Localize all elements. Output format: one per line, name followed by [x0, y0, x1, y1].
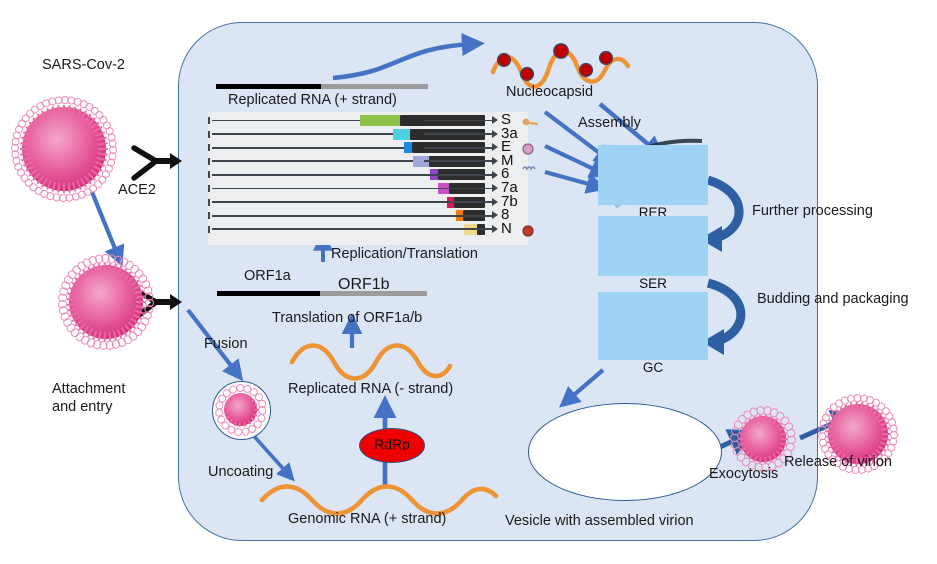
gene-segment — [404, 142, 412, 153]
rna-backbone — [212, 147, 404, 149]
replicated-plus-strand-bar — [216, 84, 428, 89]
nucleocapsid-label: Nucleocapsid — [506, 84, 593, 102]
subgenomic-rna-row: 6 — [208, 168, 528, 181]
rna-5prime-cap — [208, 199, 210, 206]
virion-exocytosing — [740, 416, 786, 462]
nucleocapsid-protein-icon — [522, 224, 536, 242]
translation-arrow-head — [492, 130, 498, 138]
virion-in-endosome — [224, 393, 257, 426]
replicated-minus-strand-label: Replicated RNA (- strand) — [288, 381, 453, 399]
subgenomic-rna-row: 7b — [208, 196, 528, 209]
translation-arrow-shaft — [424, 120, 492, 122]
subgenomic-rna-row: 8 — [208, 209, 528, 222]
translation-arrow-shaft — [424, 147, 492, 149]
gene-segment — [393, 129, 410, 140]
orf1ab-bar — [217, 291, 427, 296]
subgenomic-rna-row: M — [208, 155, 528, 168]
genomic-rna-label: Genomic RNA (+ strand) — [288, 511, 446, 529]
rna-backbone — [212, 215, 456, 217]
rna-5prime-cap — [208, 117, 210, 124]
subgenomic-rna-row: 3a — [208, 128, 528, 141]
ace2-label: ACE2 — [118, 182, 156, 200]
rna-5prime-cap — [208, 158, 210, 165]
virion-extracellular — [22, 107, 106, 191]
virion-attached — [69, 265, 143, 339]
subgenomic-rna-row: S — [208, 114, 528, 127]
ser-panel — [598, 216, 708, 276]
translation-arrow-head — [492, 184, 498, 192]
gene-segment — [360, 115, 400, 126]
assembly-label: Assembly — [578, 115, 641, 133]
translation-arrow-head — [492, 198, 498, 206]
ace2-receptor-icon — [134, 148, 182, 178]
translation-arrow-head — [492, 116, 498, 124]
budding-packaging-label: Budding and packaging — [757, 291, 909, 309]
exocytosis-label: Exocytosis — [709, 466, 778, 484]
replicated-plus-strand-label: Replicated RNA (+ strand) — [228, 92, 397, 110]
rna-5prime-cap — [208, 185, 210, 192]
rdrp-enzyme: RdRp — [359, 428, 425, 463]
spike-crown — [224, 393, 257, 426]
translation-arrow-shaft — [424, 215, 492, 217]
gc-panel — [598, 292, 708, 360]
rna-5prime-cap — [208, 131, 210, 138]
orf1a-label: ORF1a — [244, 268, 291, 286]
rna-backbone — [212, 120, 360, 122]
translation-arrow-head — [492, 143, 498, 151]
fusion-label: Fusion — [204, 336, 248, 354]
translation-arrow-shaft — [424, 228, 492, 230]
translation-arrow-shaft — [424, 188, 492, 190]
rdrp-label: RdRp — [360, 429, 424, 460]
further-processing-label: Further processing — [752, 203, 873, 221]
attachment-arrow — [92, 192, 118, 256]
subgenomic-rna-row: E — [208, 141, 528, 154]
vesicle-label: Vesicle with assembled virion — [505, 513, 694, 531]
translation-arrow-head — [492, 211, 498, 219]
rna-5prime-cap — [208, 171, 210, 178]
rna-backbone — [212, 174, 430, 176]
spike-crown — [740, 416, 786, 462]
rna-backbone — [212, 133, 393, 135]
translation-arrow-head — [492, 157, 498, 165]
rna-backbone — [212, 160, 413, 162]
spike-crown — [22, 107, 106, 191]
rna-5prime-cap — [208, 144, 210, 151]
rer-panel — [598, 145, 708, 205]
uncoating-label: Uncoating — [208, 464, 273, 482]
subgenomic-rna-row: 7a — [208, 182, 528, 195]
attachment-entry-label: Attachment and entry — [52, 381, 125, 416]
rna-5prime-cap — [208, 212, 210, 219]
translation-arrow-shaft — [424, 133, 492, 135]
rna-backbone — [212, 201, 447, 203]
translation-arrow-shaft — [424, 160, 492, 162]
translation-arrow-head — [492, 225, 498, 233]
diagram-canvas: SARS-Cov-2 ACE2 Attachment and entry Fus… — [0, 0, 937, 564]
translation-orf1ab-label: Translation of ORF1a/b — [272, 310, 422, 328]
translation-arrow-shaft — [424, 174, 492, 176]
gene-label-N: N — [501, 220, 512, 237]
replication-translation-label: Replication/Translation — [331, 246, 478, 264]
spike-crown — [69, 265, 143, 339]
subgenomic-rna-row: N — [208, 223, 528, 236]
translation-arrow-shaft — [424, 201, 492, 203]
page-title: SARS-Cov-2 — [42, 57, 125, 75]
gc-label: GC — [598, 360, 708, 375]
release-of-virion-label: Release of virion — [784, 454, 892, 472]
rna-backbone — [212, 188, 438, 190]
vesicle-assembled-virion — [528, 403, 722, 501]
ser-label: SER — [598, 276, 708, 291]
rna-5prime-cap — [208, 226, 210, 233]
translation-arrow-head — [492, 171, 498, 179]
